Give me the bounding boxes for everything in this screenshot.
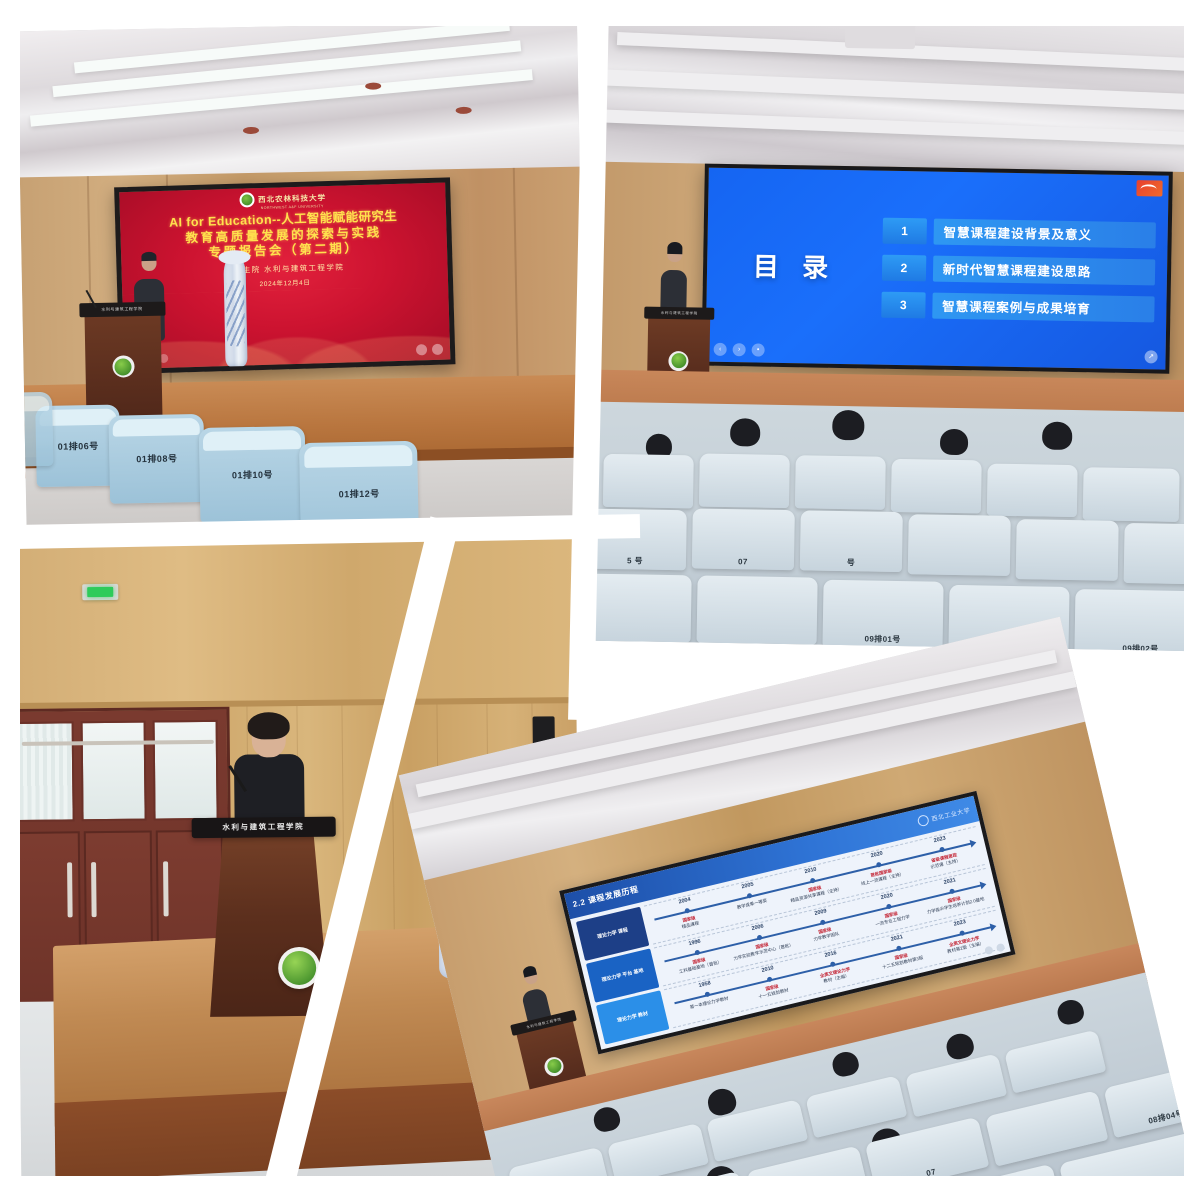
timeline-year: 2010 [804, 867, 817, 876]
timeline-event: 国家级 精品资源共享课程（主持） [784, 879, 847, 904]
toc-item-text: 智慧课程案例与成果培育 [932, 293, 1155, 323]
podium-seal-icon [543, 1055, 566, 1078]
slide-dot-icon[interactable]: • [752, 343, 765, 356]
timeline-year: 2006 [751, 924, 764, 933]
audience-head [832, 410, 865, 441]
toc-item-number: 1 [882, 218, 926, 245]
timeline-event: 国家级 工科基础基地（首批） [668, 951, 731, 976]
podium-sign-text: 水利与建筑工程学院 [101, 306, 143, 313]
hall-scene: 西北农林科技大学 NORTHWEST A&F UNIVERSITY AI for… [17, 21, 587, 552]
podium-nameplate: 水利与建筑工程学院 [644, 307, 714, 320]
ceiling-spotlight [243, 127, 259, 134]
audience-head [830, 1049, 861, 1078]
speaker-hair [141, 251, 156, 260]
seat-label: 01排10号 [232, 468, 273, 482]
timeline-year: 2010 [761, 966, 774, 975]
audience-seat[interactable] [697, 575, 818, 644]
timeline-year: 1958 [698, 981, 711, 990]
timeline-year: 2009 [814, 909, 827, 918]
seat-label: 09排02号 [1122, 643, 1158, 651]
porcelain-vase [223, 256, 247, 366]
collage-frame-top [0, 0, 1200, 26]
timeline-year: 2020 [880, 893, 893, 902]
timeline-year: 2023 [953, 919, 966, 928]
collage-frame-left [0, 0, 20, 1200]
audience-head [706, 1086, 739, 1118]
toc-item-list: 1 智慧课程建设背景及意义 2 新时代智慧课程建设思路 3 智慧课程案例与成果培… [881, 218, 1168, 323]
audience-seat[interactable] [603, 454, 694, 508]
photo-collage: 西北农林科技大学 NORTHWEST A&F UNIVERSITY AI for… [0, 0, 1200, 1200]
toc-item[interactable]: 1 智慧课程建设背景及意义 [882, 218, 1156, 249]
timeline-year: 2004 [678, 897, 691, 906]
org-logo-icon [917, 814, 930, 827]
audience-seat[interactable]: 号 [800, 510, 903, 572]
seat-label: 号 [847, 557, 856, 568]
seat[interactable]: 01排10号 [198, 426, 306, 523]
exit-sign-icon [82, 584, 118, 600]
projection-screen[interactable]: 目 录 1 智慧课程建设背景及意义 2 新时代智慧课程建设思路 3 智慧课程案例… [701, 164, 1172, 374]
brand-logo-icon [1136, 180, 1162, 196]
audience-head [1042, 421, 1072, 450]
podium-sign-text: 水利与建筑工程学院 [661, 311, 698, 317]
audience-head [730, 418, 760, 447]
seat-label: 5 号 [627, 555, 643, 566]
seat[interactable]: 01排08号 [108, 414, 205, 504]
audience-seat[interactable] [595, 573, 692, 642]
audience-head [940, 429, 968, 455]
timeline-year: 2021 [943, 877, 956, 886]
transom-window [80, 721, 146, 822]
toc-item-text: 新时代智慧课程建设思路 [933, 256, 1156, 286]
transom-window [152, 720, 218, 821]
upper-wall [15, 527, 577, 702]
timeline-event: 省级课程思政 示范课（主持） [913, 848, 976, 873]
timeline-year: 2005 [741, 882, 754, 891]
timeline-event: 国家级 精品课程 [658, 910, 721, 935]
panel-toc-slide[interactable]: 目 录 1 智慧课程建设背景及意义 2 新时代智慧课程建设思路 3 智慧课程案例… [595, 11, 1200, 651]
share-icon[interactable]: ↗ [1144, 350, 1157, 363]
speaker-hair [667, 242, 682, 254]
timeline-event: 国家级 力学教学团队 [794, 921, 857, 946]
timeline-event: 国家级 力学拔尖学生培养计划2.0基地 [924, 890, 987, 915]
toc-item-text: 智慧课程建设背景及意义 [933, 219, 1156, 249]
audience-seat[interactable] [795, 455, 886, 509]
org-logo-text: 西北工业大学 [931, 805, 972, 823]
seat-label: 07 [738, 557, 748, 566]
speaker-head [252, 719, 286, 757]
prev-slide-icon[interactable]: ‹ [714, 343, 727, 356]
timeline-year: 2016 [824, 950, 837, 959]
ceiling-light-strip [30, 69, 533, 127]
podium-seal-icon [668, 350, 688, 370]
audience-seat[interactable] [1004, 1030, 1106, 1093]
audience-seat[interactable]: 09排01号 [822, 580, 943, 649]
slide-navigation[interactable]: ‹ › • [714, 343, 765, 357]
university-seal-icon [239, 192, 254, 207]
audience-seat[interactable] [1083, 467, 1180, 521]
audience-seat[interactable] [987, 463, 1078, 517]
toc-scene: 目 录 1 智慧课程建设背景及意义 2 新时代智慧课程建设思路 3 智慧课程案例… [595, 11, 1200, 651]
slide-share-controls[interactable]: ↗ [1144, 350, 1157, 363]
audience-seat[interactable] [1016, 519, 1119, 581]
toc-item-number: 3 [881, 292, 925, 319]
timeline-event: 全英文理论力学 教材（主编） [804, 963, 867, 988]
seat-label: 01排12号 [339, 487, 380, 501]
seat-label: 01排08号 [136, 452, 177, 466]
timeline-year: 2023 [933, 836, 946, 845]
speaker-head [667, 245, 682, 262]
seat-label: 09排01号 [864, 634, 900, 646]
led-control-buttons[interactable] [416, 344, 443, 356]
banner-date: 2024年12月4日 [260, 276, 311, 288]
toc-item[interactable]: 3 智慧课程案例与成果培育 [881, 292, 1155, 323]
audience-head [1055, 998, 1086, 1027]
seat-label: 08排04号 [1147, 1108, 1185, 1127]
speaker-hair [248, 712, 290, 739]
timeline-year: 1996 [688, 939, 701, 948]
ceiling [603, 11, 1200, 185]
timeline-event: 国家级 十二五规划教材第3版 [871, 947, 934, 972]
university-name-en: NORTHWEST A&F UNIVERSITY [261, 204, 324, 210]
collage-frame-right [1184, 0, 1200, 1200]
timeline-event: 国家级 十一五规划教材 [741, 978, 804, 1003]
speaker-head [141, 253, 156, 270]
toc-item[interactable]: 2 新时代智慧课程建设思路 [882, 255, 1156, 286]
toc-title-area: 目 录 [707, 246, 882, 286]
audience-head [944, 1031, 976, 1062]
toc-item-number: 2 [882, 255, 926, 282]
audience-seat[interactable]: 07 [692, 508, 795, 570]
ceiling-beam [604, 69, 1200, 110]
ceiling [17, 21, 580, 193]
audience-seat[interactable]: 09排02号 [1074, 589, 1200, 651]
ceiling-beam [604, 109, 1200, 145]
university-name: 西北农林科技大学 [258, 194, 326, 204]
transom-window [15, 721, 75, 822]
audience-seat[interactable] [908, 514, 1011, 576]
seat-label: 01排06号 [58, 439, 99, 453]
audience-seat[interactable] [699, 453, 790, 507]
ceiling-spotlight [455, 107, 471, 114]
banner-wave-decoration [122, 285, 450, 369]
podium-sign-text: 水利与建筑工程学院 [222, 821, 304, 833]
podium-nameplate: 水利与建筑工程学院 [191, 816, 335, 838]
audience-seat[interactable] [891, 459, 982, 513]
timeline-year: 2020 [870, 851, 883, 860]
audience-seating: 5 号 07 号 09排01号 09排02号 [595, 401, 1199, 651]
collage-frame-bottom [0, 1176, 1200, 1200]
slide-title: 目 录 [753, 247, 837, 285]
timeline-event: 国家级 一流专业工程力学 [861, 905, 924, 930]
audience-head [591, 1104, 622, 1133]
led-banner: 西北农林科技大学 NORTHWEST A&F UNIVERSITY AI for… [114, 177, 455, 374]
speaker-figure [252, 719, 305, 829]
panel-lecture-hall-banner[interactable]: 西北农林科技大学 NORTHWEST A&F UNIVERSITY AI for… [17, 21, 587, 552]
audience-seat[interactable] [904, 1054, 1006, 1117]
timeline-event: 首批国家级 线上一流课程（主持） [850, 863, 913, 888]
timeline-event: 国家级 力学实验教学示范中心（首批） [731, 936, 794, 961]
timeline-year: 2021 [890, 935, 903, 944]
next-slide-icon[interactable]: › [733, 343, 746, 356]
seat[interactable] [17, 392, 53, 468]
